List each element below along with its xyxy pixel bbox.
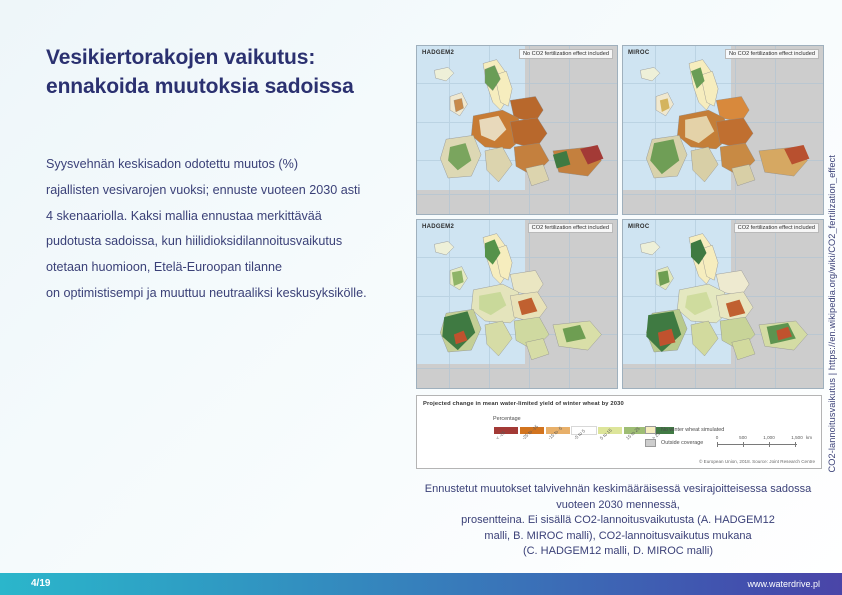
scale-tick-label: 1,500 <box>791 435 803 440</box>
map-co2-note: No CO2 fertilization effect included <box>725 49 819 59</box>
body-line: otetaan huomioon, Etelä-Euroopan tilanne <box>46 255 421 281</box>
caption-line: prosentteina. Ei sisällä CO2-lannoitusva… <box>396 513 840 529</box>
caption-line: malli, B. MIROC malli), CO2-lannoitusvai… <box>396 529 840 545</box>
map-panel-a[interactable]: HADGEM2 No CO2 fertilization effect incl… <box>414 43 620 217</box>
body-line: rajallisten vesivarojen vuoksi; ennuste … <box>46 178 421 204</box>
title-line: sadoissa <box>265 75 354 98</box>
legend-title: Projected change in mean water-limited y… <box>423 401 624 407</box>
map-model-label: MIROC <box>628 224 650 230</box>
europe-choropleth <box>623 46 823 215</box>
body-line: Syysvehnän keskisadon odotettu muutos (%… <box>46 152 421 178</box>
map-model-label: MIROC <box>628 50 650 56</box>
map-panel-b[interactable]: MIROC No CO2 fertilization effect includ… <box>620 43 826 217</box>
legend-credit: © European Union, 2018. Source: Joint Re… <box>699 459 815 464</box>
legend-unit-label: Percentage <box>493 416 521 422</box>
source-attribution-text: CO2-lannoitusvaikutus | https://en.wikip… <box>827 155 837 472</box>
legend-item-outside-coverage: Outside coverage <box>645 439 703 447</box>
page-title: Vesikiertorakojen vaikutus: ennakoida mu… <box>46 44 406 101</box>
scale-tick-label: 1,000 <box>763 435 775 440</box>
map-panel-c[interactable]: HADGEM2 CO2 fertilization effect include… <box>414 217 620 391</box>
legend-item-label: Outside coverage <box>661 440 703 446</box>
map-model-label: HADGEM2 <box>422 50 454 56</box>
scale-tick-label: 0 <box>716 435 719 440</box>
footer-bar: 4/19 www.waterdrive.pl <box>0 573 842 595</box>
legend-swatch-no-wheat <box>645 426 656 434</box>
scale-bar-line <box>717 444 797 445</box>
europe-choropleth <box>417 220 617 389</box>
map-canvas: MIROC CO2 fertilization effect included <box>622 219 824 389</box>
caption-line: vuoteen 2030 mennessä, <box>396 498 840 514</box>
map-model-label: HADGEM2 <box>422 224 454 230</box>
body-line: on optimistisempi ja muuttuu neutraaliks… <box>46 281 421 307</box>
title-line: Vesikiertorakojen vaikutus: <box>46 46 315 69</box>
legend-swatch-outside <box>645 439 656 447</box>
figure-caption: Ennustetut muutokset talvivehnän keskimä… <box>396 482 840 560</box>
footer-url[interactable]: www.waterdrive.pl <box>747 579 820 589</box>
scale-unit-label: km <box>806 435 812 440</box>
body-line: pudotusta sadoissa, kun hiilidioksidilan… <box>46 229 421 255</box>
legend-item-no-wheat: No winter wheat simulated <box>645 426 724 434</box>
caption-line: (C. HADGEM12 malli, D. MIROC malli) <box>396 544 840 560</box>
scale-tick-label: 500 <box>739 435 747 440</box>
legend-item-label: No winter wheat simulated <box>661 427 724 433</box>
source-attribution: CO2-lannoitusvaikutus | https://en.wikip… <box>824 40 840 472</box>
map-canvas: HADGEM2 CO2 fertilization effect include… <box>416 219 618 389</box>
map-canvas: MIROC No CO2 fertilization effect includ… <box>622 45 824 215</box>
body-line: 4 skenaariolla. Kaksi mallia ennustaa me… <box>46 204 421 230</box>
map-grid: HADGEM2 No CO2 fertilization effect incl… <box>414 43 826 391</box>
title-line: ennakoida muutoksia <box>46 75 259 98</box>
europe-choropleth <box>417 46 617 215</box>
map-canvas: HADGEM2 No CO2 fertilization effect incl… <box>416 45 618 215</box>
map-co2-note: CO2 fertilization effect included <box>734 223 819 233</box>
legend-box: Projected change in mean water-limited y… <box>416 395 822 469</box>
page-number: 4/19 <box>31 578 50 589</box>
body-text: Syysvehnän keskisadon odotettu muutos (%… <box>46 152 421 307</box>
scale-bar: 0 500 1,000 1,500 km <box>717 438 809 452</box>
europe-choropleth <box>623 220 823 389</box>
caption-line: Ennustetut muutokset talvivehnän keskimä… <box>396 482 840 498</box>
map-co2-note: CO2 fertilization effect included <box>528 223 613 233</box>
map-panel-d[interactable]: MIROC CO2 fertilization effect included <box>620 217 826 391</box>
figure-panel: HADGEM2 No CO2 fertilization effect incl… <box>414 43 826 471</box>
map-co2-note: No CO2 fertilization effect included <box>519 49 613 59</box>
